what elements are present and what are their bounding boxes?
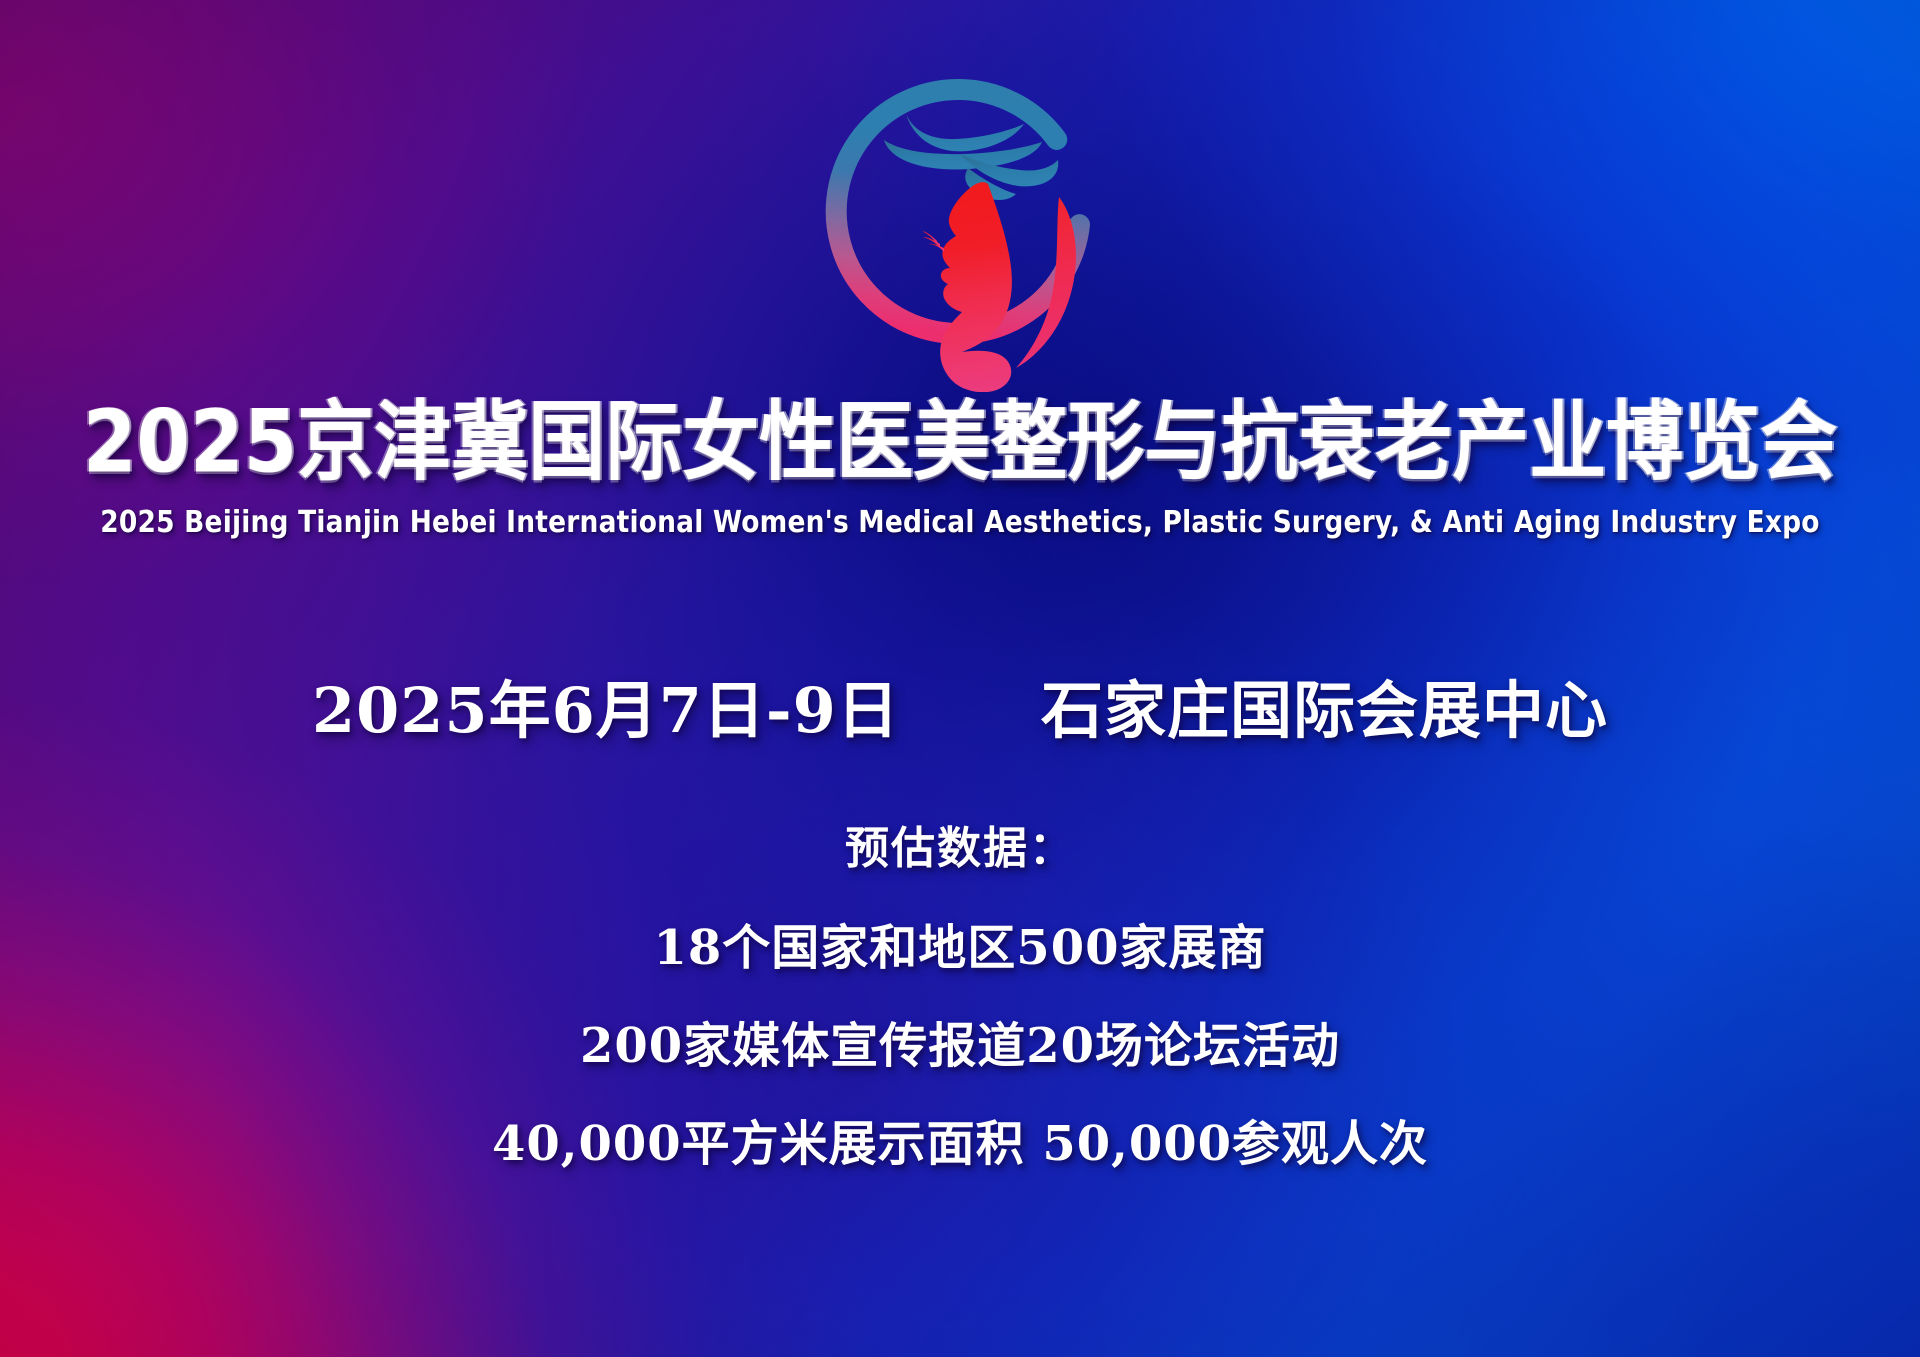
page-title-chinese: 2025京津冀国际女性医美整形与抗衰老产业博览会 xyxy=(0,400,1920,488)
page-title-english: 2025 Beijing Tianjin Hebei International… xyxy=(34,505,1887,540)
stats-line-exhibitors: 18个国家和地区500家展商 xyxy=(0,908,1920,978)
stats-heading: 预估数据： xyxy=(0,812,1920,876)
poster-canvas: 2025京津冀国际女性医美整形与抗衰老产业博览会 2025 Beijing Ti… xyxy=(0,0,1920,1357)
date-venue-line: 2025年6月7日-9日 石家庄国际会展中心 xyxy=(0,660,1920,750)
stats-line-media-forums: 200家媒体宣传报道20场论坛活动 xyxy=(0,1006,1920,1076)
logo-woman-profile xyxy=(922,182,1012,392)
event-date: 2025年6月7日-9日 xyxy=(312,674,900,747)
title-block: 2025京津冀国际女性医美整形与抗衰老产业博览会 2025 Beijing Ti… xyxy=(0,400,1920,540)
expo-logo xyxy=(810,62,1110,392)
event-venue: 石家庄国际会展中心 xyxy=(1041,674,1608,747)
stats-line-area-visitors: 40,000平方米展示面积 50,000参观人次 xyxy=(0,1104,1920,1174)
estimated-stats-block: 预估数据： 18个国家和地区500家展商 200家媒体宣传报道20场论坛活动 4… xyxy=(0,812,1920,1174)
poster-content: 2025京津冀国际女性医美整形与抗衰老产业博览会 2025 Beijing Ti… xyxy=(0,0,1920,1357)
